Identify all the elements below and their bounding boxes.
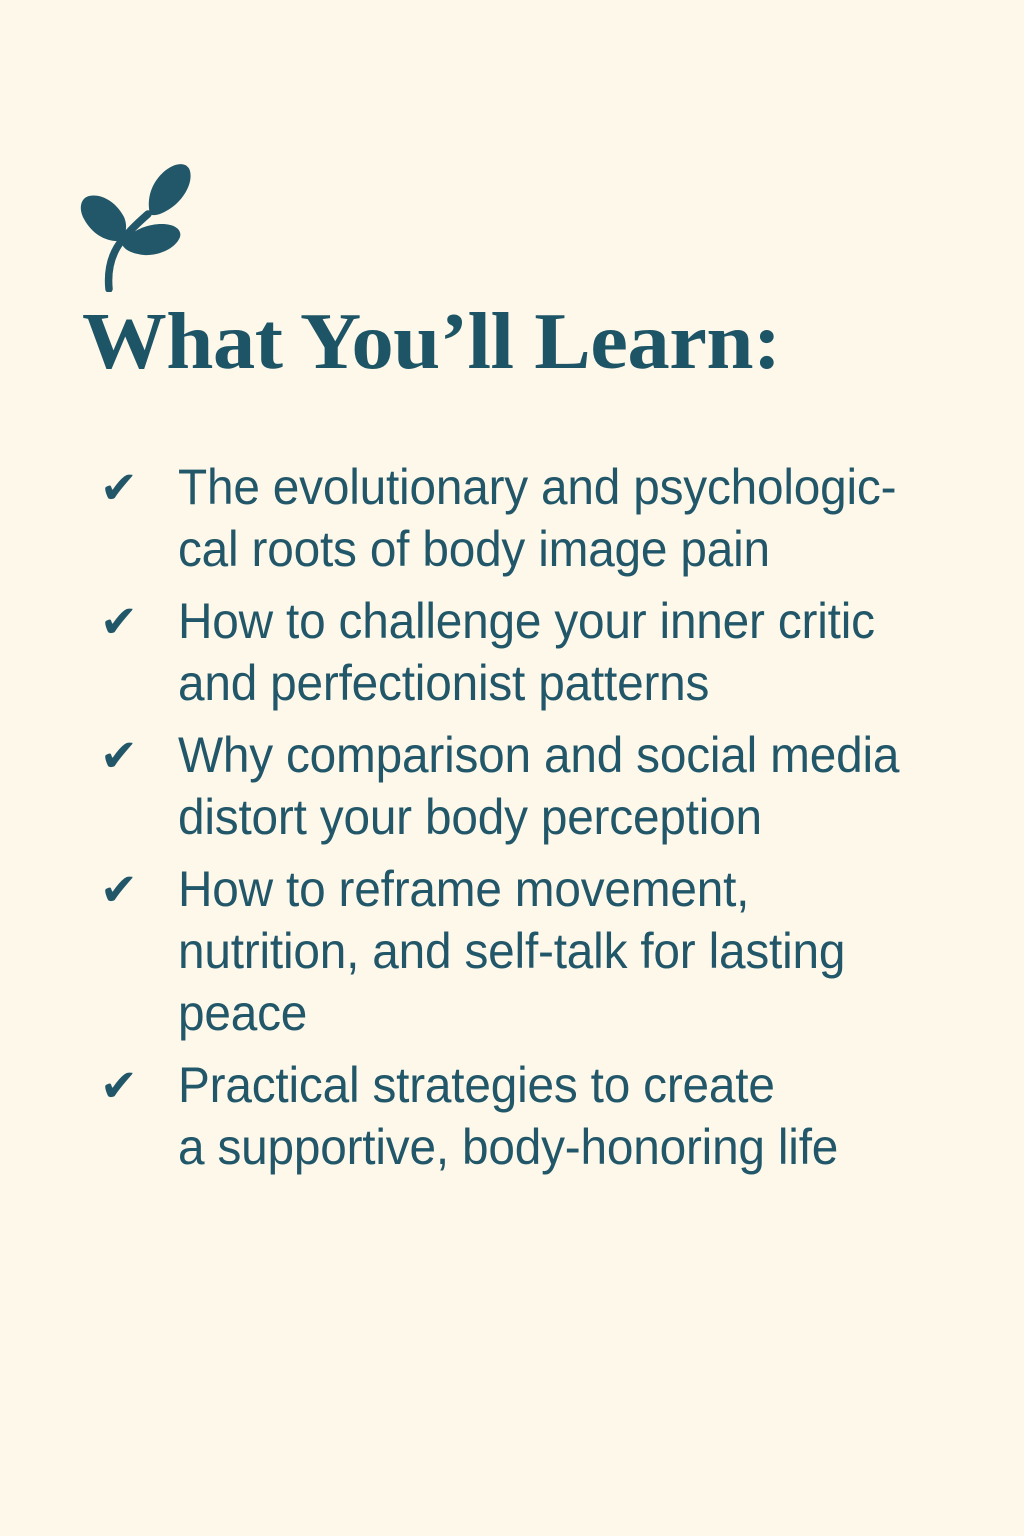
list-item-label: Why comparison and social media distort … (178, 720, 940, 848)
check-icon: ✔ (96, 586, 178, 658)
check-icon: ✔ (96, 452, 178, 524)
leaf-sprig-icon (76, 162, 200, 292)
list-item-label: Practical strategies to create a support… (178, 1050, 940, 1178)
check-icon: ✔ (96, 720, 178, 792)
list-item-label: How to reframe movement, nutrition, and … (178, 854, 940, 1044)
learn-list-card: What You’ll Learn: ✔ The evolutionary an… (0, 0, 1024, 1536)
check-icon: ✔ (96, 854, 178, 926)
list-item: ✔ How to reframe movement, nutrition, an… (96, 854, 976, 1044)
page-title: What You’ll Learn: (82, 299, 1015, 385)
list-item: ✔ Practical strategies to create a suppo… (96, 1050, 976, 1178)
list-item: ✔ How to challenge your inner critic and… (96, 586, 976, 714)
list-item-label: How to challenge your inner critic and p… (178, 586, 940, 714)
check-icon: ✔ (96, 1050, 178, 1122)
list-item: ✔ Why comparison and social media distor… (96, 720, 976, 848)
list-item: ✔ The evolutionary and psychologic- cal … (96, 452, 976, 580)
list-item-label: The evolutionary and psychologic- cal ro… (178, 452, 940, 580)
benefits-list: ✔ The evolutionary and psychologic- cal … (96, 452, 976, 1184)
